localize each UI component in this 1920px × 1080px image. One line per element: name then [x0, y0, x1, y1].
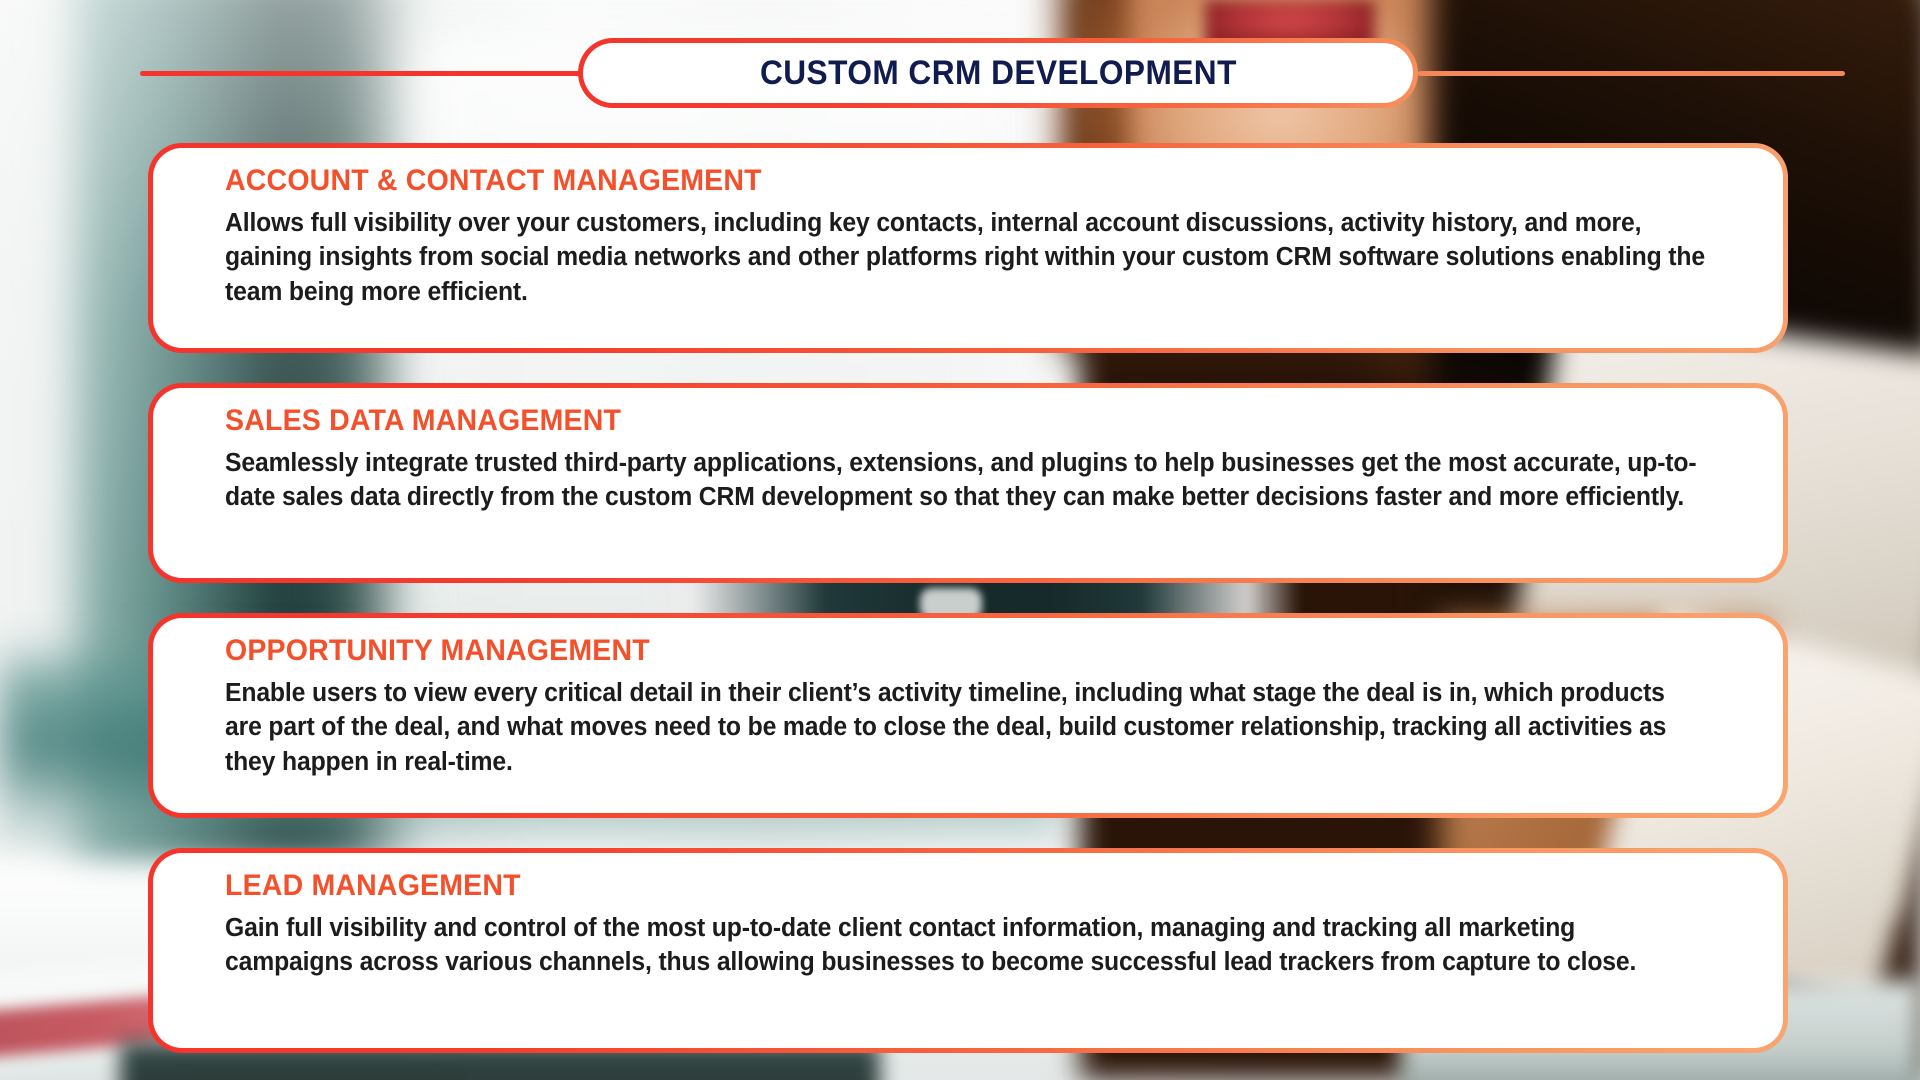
feature-card-body: Gain full visibility and control of the …: [225, 911, 1707, 980]
feature-card: LEAD MANAGEMENT Gain full visibility and…: [148, 848, 1788, 1053]
feature-card-body: Enable users to view every critical deta…: [225, 676, 1707, 779]
feature-card-title: ACCOUNT & CONTACT MANAGEMENT: [225, 164, 1677, 198]
feature-card-title: SALES DATA MANAGEMENT: [225, 404, 1677, 438]
slide-root: CUSTOM CRM DEVELOPMENT ACCOUNT & CONTACT…: [0, 0, 1920, 1080]
feature-card-title: OPPORTUNITY MANAGEMENT: [225, 634, 1677, 668]
feature-card-body: Allows full visibility over your custome…: [225, 206, 1707, 309]
feature-card: ACCOUNT & CONTACT MANAGEMENT Allows full…: [148, 143, 1788, 353]
feature-card: SALES DATA MANAGEMENT Seamlessly integra…: [148, 383, 1788, 583]
feature-card-list: ACCOUNT & CONTACT MANAGEMENT Allows full…: [0, 0, 1920, 1080]
feature-card: OPPORTUNITY MANAGEMENT Enable users to v…: [148, 613, 1788, 818]
feature-card-title: LEAD MANAGEMENT: [225, 869, 1677, 903]
feature-card-body: Seamlessly integrate trusted third-party…: [225, 446, 1707, 515]
